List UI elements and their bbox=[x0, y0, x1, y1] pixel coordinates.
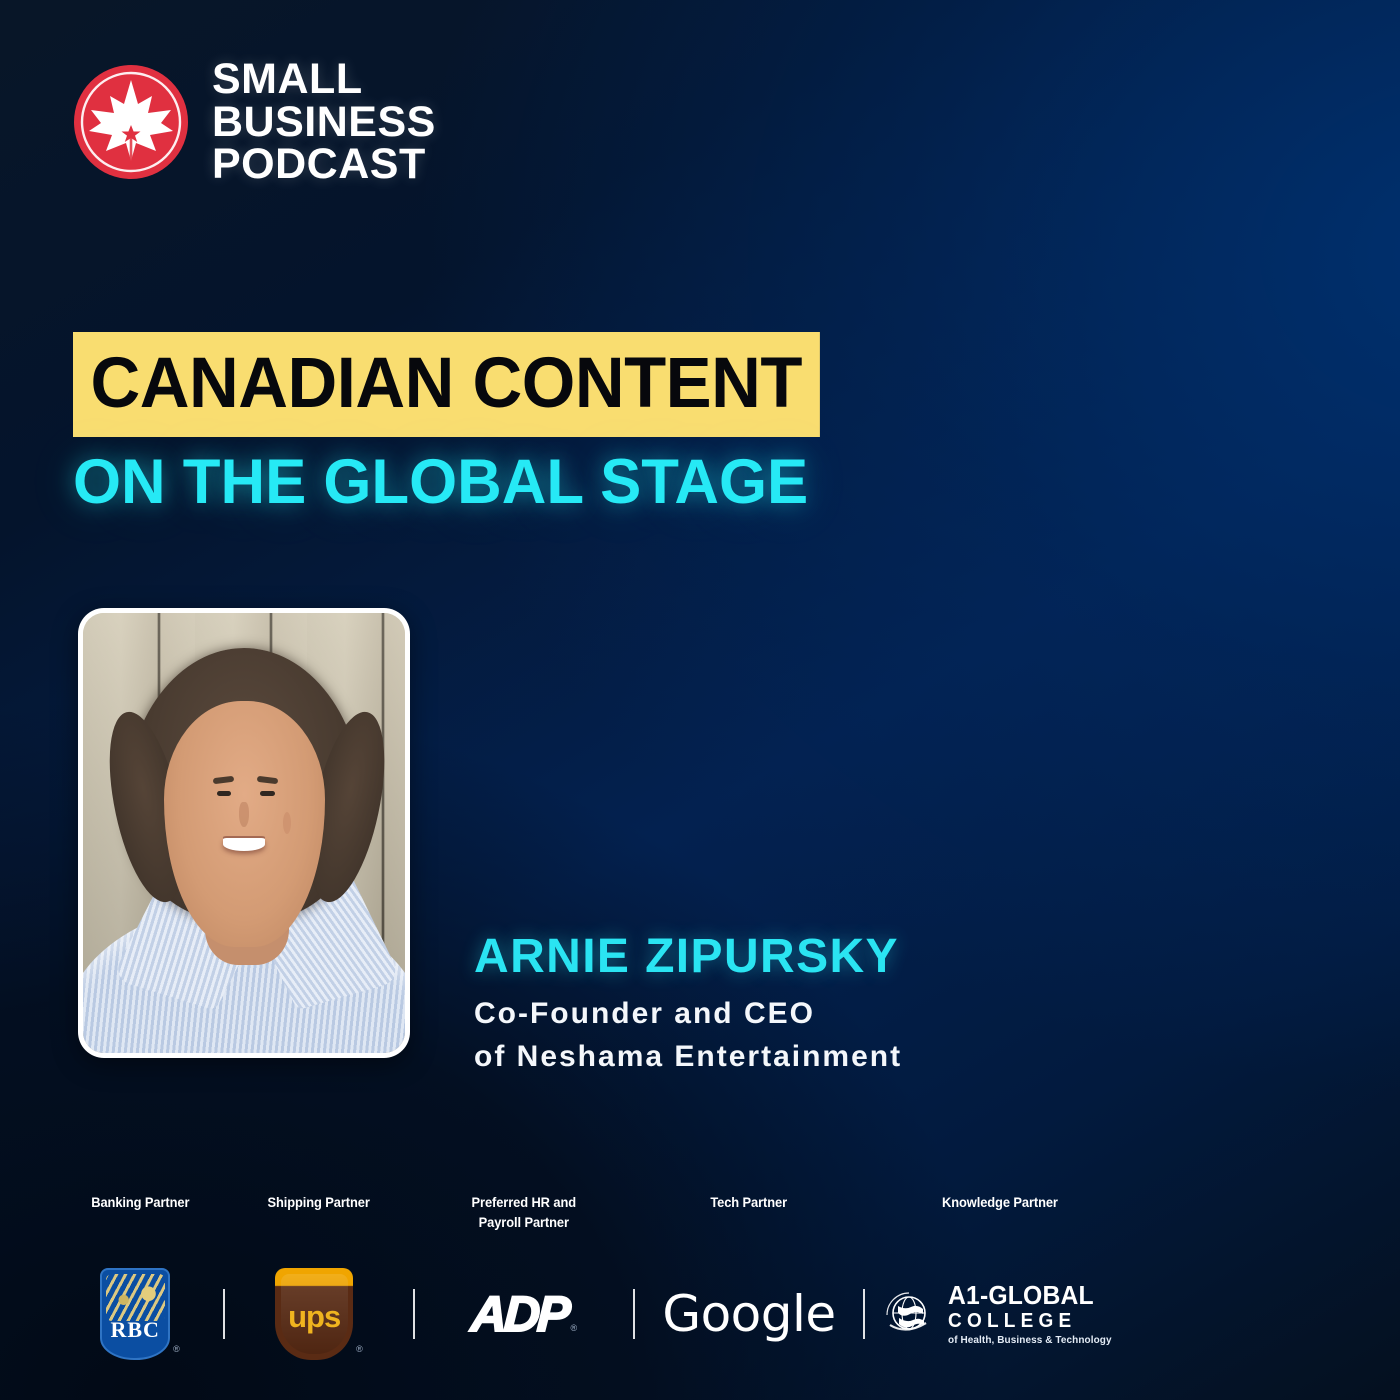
rbc-logo[interactable]: RBC ® bbox=[56, 1268, 224, 1360]
partner-labels: Banking Partner Shipping Partner Preferr… bbox=[56, 1192, 1136, 1234]
speaker-role: Co-Founder and CEO of Neshama Entertainm… bbox=[474, 993, 902, 1078]
partner-label-shipping: Shipping Partner bbox=[224, 1192, 414, 1234]
a1-tagline: of Health, Business & Technology bbox=[948, 1335, 1112, 1346]
ups-logo[interactable]: ups ® bbox=[224, 1268, 414, 1360]
partner-label-line-1: Preferred HR and bbox=[472, 1192, 576, 1212]
photo-brow-left bbox=[213, 776, 235, 785]
speaker-photo bbox=[83, 613, 405, 1053]
partner-label-hr-payroll: Preferred HR and Payroll Partner bbox=[414, 1192, 634, 1234]
ups-wordmark: ups bbox=[275, 1299, 353, 1335]
partner-logos: RBC ® ups ® ADP ® Google bbox=[56, 1262, 1136, 1366]
speaker-role-line-2: of Neshama Entertainment bbox=[474, 1036, 902, 1079]
photo-nose bbox=[239, 802, 249, 827]
a1-global-wordmark: A1-GLOBAL bbox=[948, 1282, 1112, 1308]
google-logo[interactable]: Google bbox=[634, 1285, 864, 1343]
partner-label-line-1: Banking Partner bbox=[91, 1192, 189, 1212]
speaker-photo-frame bbox=[78, 608, 410, 1058]
globe-icon bbox=[880, 1285, 938, 1343]
adp-wordmark: ADP bbox=[470, 1289, 569, 1339]
partner-label-line-1: Tech Partner bbox=[711, 1192, 788, 1212]
speaker-block: ARNIE ZIPURSKY Co-Founder and CEO of Nes… bbox=[474, 932, 902, 1079]
photo-smile bbox=[223, 838, 265, 852]
rbc-shield-icon: RBC bbox=[100, 1268, 170, 1360]
partner-label-line-1: Knowledge Partner bbox=[942, 1192, 1058, 1212]
rbc-lion-icon bbox=[106, 1274, 165, 1322]
rbc-wordmark: RBC bbox=[100, 1317, 170, 1343]
speaker-role-line-1: Co-Founder and CEO bbox=[474, 993, 902, 1036]
photo-face bbox=[164, 701, 325, 947]
episode-title-subline: ON THE GLOBAL STAGE bbox=[73, 451, 1200, 514]
maple-leaf-badge-icon bbox=[72, 63, 190, 181]
partner-label-line-1: Shipping Partner bbox=[268, 1192, 370, 1212]
a1-global-college-logo[interactable]: A1-GLOBAL COLLEGE of Health, Business & … bbox=[864, 1282, 1136, 1346]
episode-title-highlight: CANADIAN CONTENT bbox=[73, 332, 819, 437]
episode-title: CANADIAN CONTENT ON THE GLOBAL STAGE bbox=[73, 332, 1223, 514]
adp-trademark: ® bbox=[570, 1323, 577, 1339]
brand-logo: SMALL BUSINESS PODCAST bbox=[72, 58, 436, 186]
brand-line-2: BUSINESS bbox=[212, 101, 436, 144]
podcast-cover-art: SMALL BUSINESS PODCAST CANADIAN CONTENT … bbox=[0, 0, 1400, 1400]
brand-line-3: PODCAST bbox=[212, 143, 436, 186]
photo-eye-left bbox=[217, 791, 231, 796]
photo-eye-right bbox=[260, 791, 274, 796]
partner-label-banking: Banking Partner bbox=[56, 1192, 224, 1234]
a1-college-wordmark: COLLEGE bbox=[948, 1311, 1112, 1331]
speaker-name: ARNIE ZIPURSKY bbox=[474, 932, 902, 982]
brand-line-1: SMALL bbox=[212, 58, 436, 101]
google-wordmark: Google bbox=[662, 1285, 835, 1343]
brand-name: SMALL BUSINESS PODCAST bbox=[212, 58, 436, 186]
ups-trademark: ® bbox=[356, 1344, 363, 1360]
rbc-trademark: ® bbox=[173, 1344, 180, 1360]
partner-label-tech: Tech Partner bbox=[634, 1192, 864, 1234]
ups-shield-icon: ups bbox=[275, 1268, 353, 1360]
photo-ear bbox=[283, 812, 291, 834]
partner-label-line-2: Payroll Partner bbox=[472, 1212, 576, 1232]
adp-logo[interactable]: ADP ® bbox=[414, 1289, 634, 1339]
photo-brow-right bbox=[257, 776, 279, 785]
partner-label-knowledge: Knowledge Partner bbox=[864, 1192, 1136, 1234]
